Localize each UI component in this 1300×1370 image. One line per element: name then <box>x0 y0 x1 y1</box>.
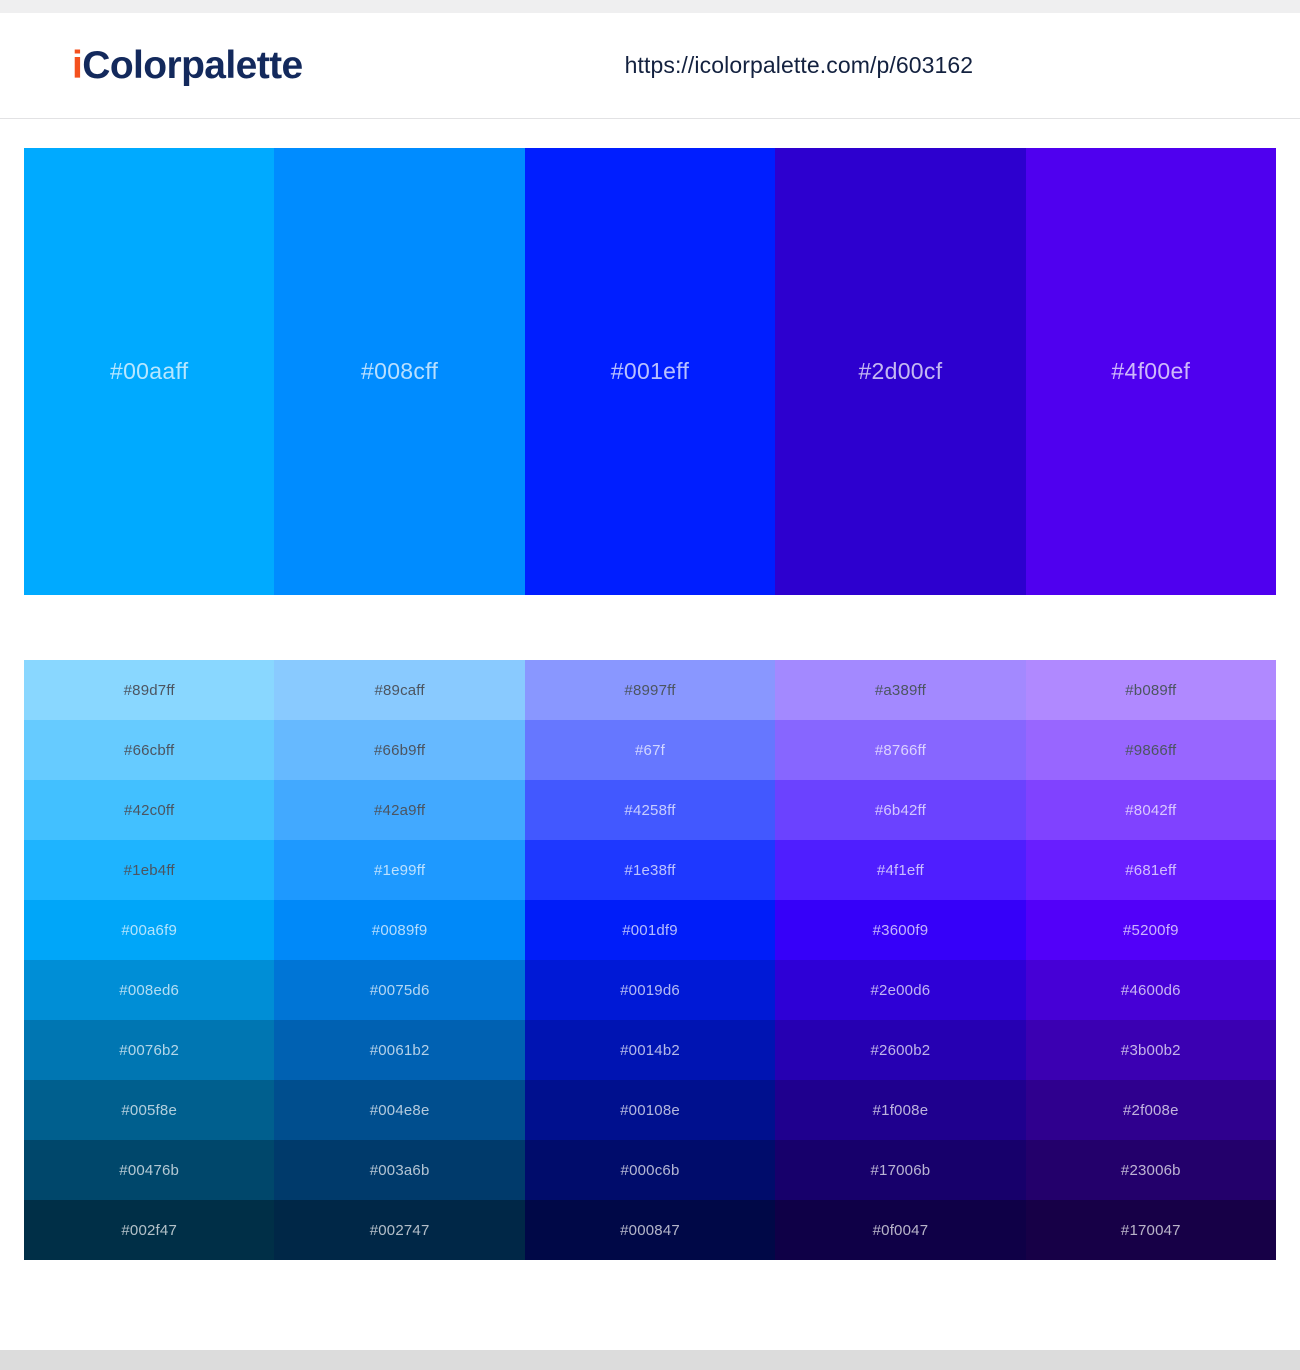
shade-cell[interactable]: #0061b2 <box>274 1020 524 1080</box>
shade-cell[interactable]: #0089f9 <box>274 900 524 960</box>
shade-cell[interactable]: #89d7ff <box>24 660 274 720</box>
shade-cell[interactable]: #0014b2 <box>525 1020 775 1080</box>
shade-hex-label: #9866ff <box>1125 742 1176 759</box>
shade-hex-label: #002747 <box>370 1222 430 1239</box>
shade-cell[interactable]: #1e99ff <box>274 840 524 900</box>
shade-row: #005f8e#004e8e#00108e#1f008e#2f008e <box>24 1080 1276 1140</box>
shade-hex-label: #4600d6 <box>1121 982 1181 999</box>
swatch-hex-label: #001eff <box>611 358 689 385</box>
main-swatch[interactable]: #008cff <box>274 148 524 595</box>
shade-hex-label: #5200f9 <box>1123 922 1179 939</box>
palette-url: https://icolorpalette.com/p/603162 <box>625 52 974 79</box>
shade-hex-label: #b089ff <box>1125 682 1176 699</box>
logo-letter-i: i <box>72 44 82 87</box>
shade-cell[interactable]: #002f47 <box>24 1200 274 1260</box>
shade-hex-label: #4258ff <box>624 802 675 819</box>
shade-hex-label: #003a6b <box>370 1162 430 1179</box>
bottom-decorative-band <box>0 1350 1300 1370</box>
shade-hex-label: #00108e <box>620 1102 680 1119</box>
shade-hex-label: #2600b2 <box>871 1042 931 1059</box>
shade-cell[interactable]: #89caff <box>274 660 524 720</box>
shade-cell[interactable]: #005f8e <box>24 1080 274 1140</box>
shade-cell[interactable]: #0075d6 <box>274 960 524 1020</box>
shade-cell[interactable]: #00108e <box>525 1080 775 1140</box>
main-palette-strip: #00aaff#008cff#001eff#2d00cf#4f00ef <box>24 148 1276 595</box>
swatch-hex-label: #2d00cf <box>858 358 942 385</box>
shade-hex-label: #8997ff <box>624 682 675 699</box>
shade-hex-label: #1eb4ff <box>124 862 175 879</box>
shade-hex-label: #000c6b <box>621 1162 680 1179</box>
shade-cell[interactable]: #1eb4ff <box>24 840 274 900</box>
shade-cell[interactable]: #00a6f9 <box>24 900 274 960</box>
shade-hex-label: #67f <box>635 742 665 759</box>
shade-hex-label: #2e00d6 <box>871 982 931 999</box>
shade-row: #1eb4ff#1e99ff#1e38ff#4f1eff#681eff <box>24 840 1276 900</box>
shade-row: #00476b#003a6b#000c6b#17006b#23006b <box>24 1140 1276 1200</box>
shade-grid: #89d7ff#89caff#8997ff#a389ff#b089ff#66cb… <box>24 660 1276 1260</box>
shade-hex-label: #17006b <box>871 1162 931 1179</box>
shade-cell[interactable]: #a389ff <box>775 660 1025 720</box>
shade-cell[interactable]: #1e38ff <box>525 840 775 900</box>
shade-hex-label: #008ed6 <box>119 982 179 999</box>
site-logo[interactable]: iColorpalette <box>72 46 303 85</box>
shade-cell[interactable]: #00476b <box>24 1140 274 1200</box>
shade-hex-label: #000847 <box>620 1222 680 1239</box>
shade-hex-label: #66cbff <box>124 742 174 759</box>
shade-cell[interactable]: #66cbff <box>24 720 274 780</box>
shade-hex-label: #0f0047 <box>873 1222 929 1239</box>
top-decorative-band <box>0 0 1300 13</box>
swatch-hex-label: #008cff <box>361 358 438 385</box>
logo-word: Colorpalette <box>82 44 302 87</box>
shade-cell[interactable]: #2e00d6 <box>775 960 1025 1020</box>
swatch-hex-label: #4f00ef <box>1111 358 1190 385</box>
shade-hex-label: #42a9ff <box>374 802 425 819</box>
shade-cell[interactable]: #170047 <box>1026 1200 1276 1260</box>
shade-hex-label: #3600f9 <box>873 922 929 939</box>
shade-hex-label: #0061b2 <box>370 1042 430 1059</box>
site-header: iColorpalette https://icolorpalette.com/… <box>0 13 1300 119</box>
shade-hex-label: #002f47 <box>121 1222 177 1239</box>
shade-hex-label: #170047 <box>1121 1222 1181 1239</box>
shade-cell[interactable]: #67f <box>525 720 775 780</box>
shade-hex-label: #4f1eff <box>877 862 924 879</box>
shade-hex-label: #8766ff <box>875 742 926 759</box>
shade-hex-label: #00476b <box>119 1162 179 1179</box>
shade-cell[interactable]: #004e8e <box>274 1080 524 1140</box>
shade-cell[interactable]: #1f008e <box>775 1080 1025 1140</box>
shade-cell[interactable]: #3b00b2 <box>1026 1020 1276 1080</box>
shade-hex-label: #1e38ff <box>624 862 675 879</box>
shade-cell[interactable]: #6b42ff <box>775 780 1025 840</box>
shade-row: #66cbff#66b9ff#67f#8766ff#9866ff <box>24 720 1276 780</box>
shade-hex-label: #a389ff <box>875 682 926 699</box>
shade-cell[interactable]: #000847 <box>525 1200 775 1260</box>
swatch-hex-label: #00aaff <box>110 358 188 385</box>
shade-hex-label: #1f008e <box>873 1102 929 1119</box>
shade-cell[interactable]: #42c0ff <box>24 780 274 840</box>
shade-row: #00a6f9#0089f9#001df9#3600f9#5200f9 <box>24 900 1276 960</box>
shade-cell[interactable]: #3600f9 <box>775 900 1025 960</box>
shade-hex-label: #0089f9 <box>372 922 428 939</box>
shade-hex-label: #0075d6 <box>370 982 430 999</box>
shade-hex-label: #004e8e <box>370 1102 430 1119</box>
shade-hex-label: #66b9ff <box>374 742 425 759</box>
shade-hex-label: #0076b2 <box>119 1042 179 1059</box>
shade-cell[interactable]: #0f0047 <box>775 1200 1025 1260</box>
shade-cell[interactable]: #b089ff <box>1026 660 1276 720</box>
shade-cell[interactable]: #4258ff <box>525 780 775 840</box>
shade-hex-label: #1e99ff <box>374 862 425 879</box>
shade-hex-label: #8042ff <box>1125 802 1176 819</box>
shade-row: #0076b2#0061b2#0014b2#2600b2#3b00b2 <box>24 1020 1276 1080</box>
shade-row: #89d7ff#89caff#8997ff#a389ff#b089ff <box>24 660 1276 720</box>
shade-hex-label: #23006b <box>1121 1162 1181 1179</box>
shade-hex-label: #2f008e <box>1123 1102 1179 1119</box>
shade-cell[interactable]: #4f1eff <box>775 840 1025 900</box>
shade-cell[interactable]: #17006b <box>775 1140 1025 1200</box>
shade-hex-label: #42c0ff <box>124 802 174 819</box>
shade-cell[interactable]: #66b9ff <box>274 720 524 780</box>
shade-hex-label: #89d7ff <box>124 682 175 699</box>
shade-hex-label: #681eff <box>1125 862 1176 879</box>
shade-cell[interactable]: #8042ff <box>1026 780 1276 840</box>
shade-row: #002f47#002747#000847#0f0047#170047 <box>24 1200 1276 1260</box>
main-swatch[interactable]: #001eff <box>525 148 775 595</box>
shade-cell[interactable]: #5200f9 <box>1026 900 1276 960</box>
shade-row: #008ed6#0075d6#0019d6#2e00d6#4600d6 <box>24 960 1276 1020</box>
shade-cell[interactable]: #0019d6 <box>525 960 775 1020</box>
main-swatch[interactable]: #00aaff <box>24 148 274 595</box>
shade-hex-label: #89caff <box>374 682 424 699</box>
shade-row: #42c0ff#42a9ff#4258ff#6b42ff#8042ff <box>24 780 1276 840</box>
shade-hex-label: #00a6f9 <box>121 922 177 939</box>
shade-cell[interactable]: #8766ff <box>775 720 1025 780</box>
shade-cell[interactable]: #23006b <box>1026 1140 1276 1200</box>
shade-cell[interactable]: #0076b2 <box>24 1020 274 1080</box>
shade-hex-label: #0014b2 <box>620 1042 680 1059</box>
shade-cell[interactable]: #2600b2 <box>775 1020 1025 1080</box>
shade-cell[interactable]: #003a6b <box>274 1140 524 1200</box>
shade-cell[interactable]: #42a9ff <box>274 780 524 840</box>
shade-cell[interactable]: #001df9 <box>525 900 775 960</box>
shade-cell[interactable]: #002747 <box>274 1200 524 1260</box>
shade-hex-label: #001df9 <box>622 922 678 939</box>
main-swatch[interactable]: #2d00cf <box>775 148 1025 595</box>
shade-cell[interactable]: #2f008e <box>1026 1080 1276 1140</box>
shade-cell[interactable]: #9866ff <box>1026 720 1276 780</box>
shade-hex-label: #6b42ff <box>875 802 926 819</box>
shade-hex-label: #0019d6 <box>620 982 680 999</box>
shade-cell[interactable]: #681eff <box>1026 840 1276 900</box>
shade-hex-label: #3b00b2 <box>1121 1042 1181 1059</box>
shade-cell[interactable]: #008ed6 <box>24 960 274 1020</box>
shade-cell[interactable]: #4600d6 <box>1026 960 1276 1020</box>
main-swatch[interactable]: #4f00ef <box>1026 148 1276 595</box>
shade-cell[interactable]: #000c6b <box>525 1140 775 1200</box>
color-palette-page: iColorpalette https://icolorpalette.com/… <box>0 0 1300 1370</box>
shade-cell[interactable]: #8997ff <box>525 660 775 720</box>
shade-hex-label: #005f8e <box>121 1102 177 1119</box>
